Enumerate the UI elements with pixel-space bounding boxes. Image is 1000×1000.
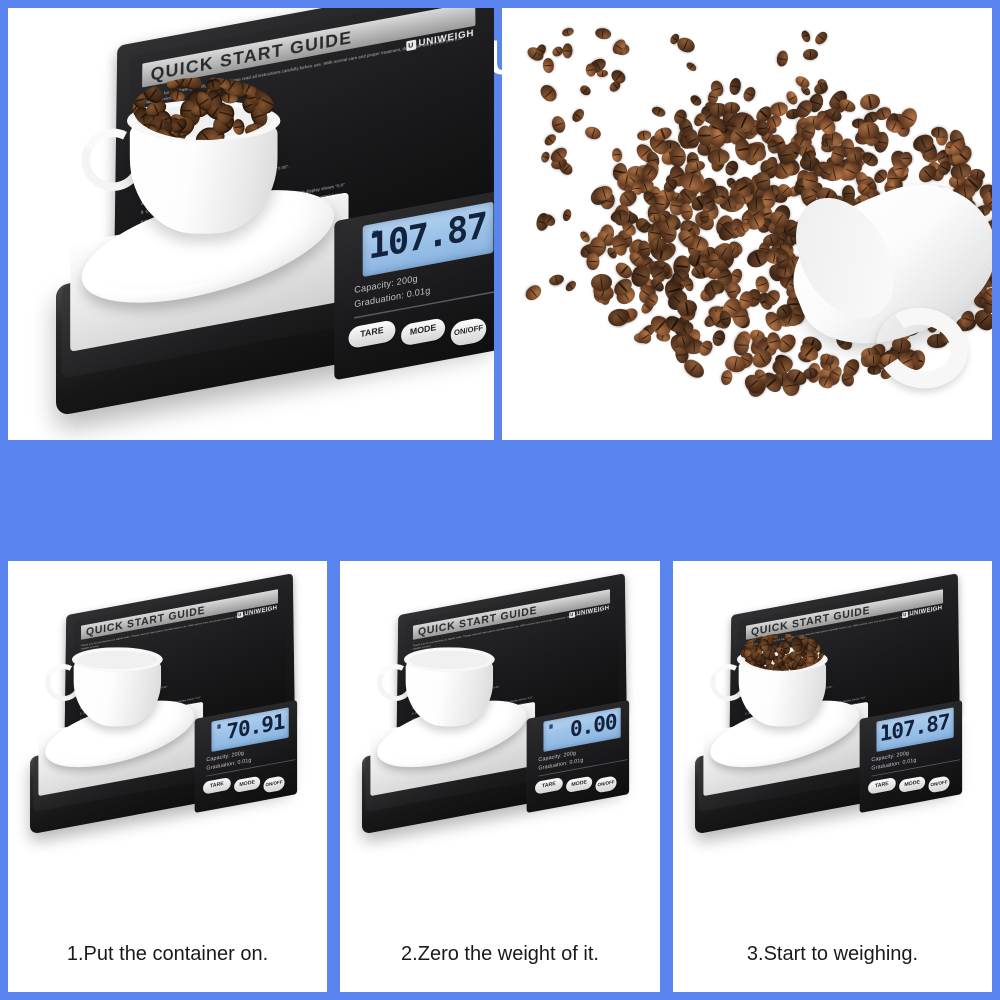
coffee-bean: [543, 132, 559, 148]
beans-in-cup: [133, 77, 275, 139]
coffee-bean: [563, 44, 573, 59]
mode-button[interactable]: MODE: [401, 317, 445, 346]
tare-button[interactable]: TARE: [868, 777, 896, 795]
coffee-bean: [594, 27, 612, 41]
brand-mark-icon: U: [902, 612, 908, 619]
coffee-bean: [697, 126, 712, 146]
onoff-button[interactable]: ON/OFF: [929, 775, 950, 793]
onoff-button[interactable]: ON/OFF: [451, 317, 487, 348]
coffee-bean: [800, 29, 812, 43]
coffee-bean: [670, 147, 686, 167]
cup-interior: [409, 651, 490, 669]
product-infographic: QUICK START GUIDE Thank you for purchasi…: [0, 0, 1000, 1000]
coffee-bean: [720, 369, 734, 386]
coffee-bean: [561, 208, 572, 222]
onoff-button[interactable]: ON/OFF: [264, 775, 285, 793]
mode-button[interactable]: MODE: [234, 776, 260, 793]
coffee-bean: [688, 94, 703, 109]
tare-button[interactable]: TARE: [203, 777, 231, 795]
coffee-bean: [741, 86, 757, 104]
coffee-bean: [586, 253, 600, 271]
brand-mark-icon: U: [569, 612, 575, 619]
coffee-bean: [611, 148, 622, 163]
tare-button[interactable]: TARE: [535, 777, 563, 795]
coffee-bean: [540, 150, 551, 163]
coffee-bean: [650, 104, 666, 118]
coffee-bean: [561, 27, 575, 38]
onoff-button[interactable]: ON/OFF: [596, 775, 617, 793]
onoff-label: ON/OFF: [597, 781, 614, 789]
coffee-bean: [728, 77, 742, 95]
lcd-value: 0.00: [570, 711, 617, 741]
coffee-bean: [775, 50, 789, 68]
coffee-bean: [675, 35, 697, 55]
onoff-label: ON/OFF: [265, 781, 282, 789]
onoff-label: ON/OFF: [930, 781, 947, 789]
coffee-bean: [564, 279, 578, 293]
step-panel-3: QUICK START GUIDE Thank you for purchasi…: [673, 561, 992, 992]
step-panel-2: QUICK START GUIDE Thank you for purchasi…: [340, 561, 660, 992]
mode-button[interactable]: MODE: [566, 776, 592, 793]
coffee-bean: [578, 84, 592, 98]
coffee-bean: [799, 84, 812, 97]
hero-right-panel: [502, 8, 992, 440]
coffee-bean: [813, 29, 830, 46]
coffee-bean: [685, 60, 698, 72]
coffee-bean: [762, 190, 775, 208]
coffee-bean: [711, 329, 727, 348]
coffee-bean: [548, 273, 565, 286]
beans-in-cup: [740, 634, 824, 671]
step-caption: 3.Start to weighing.: [673, 943, 992, 966]
coffee-bean: [683, 276, 695, 291]
coffee-bean: [537, 82, 560, 105]
coffee-bean: [232, 118, 245, 135]
mode-button[interactable]: MODE: [899, 776, 925, 793]
lcd-unit-indicator: [217, 724, 220, 729]
cup-interior: [77, 651, 158, 669]
brand-mark-icon: U: [237, 612, 243, 619]
coffee-bean: [860, 150, 881, 170]
onoff-label: ON/OFF: [454, 325, 483, 338]
step-caption: 1.Put the container on.: [8, 943, 327, 966]
hero-left-panel: QUICK START GUIDE Thank you for purchasi…: [8, 8, 494, 440]
brand-mark-icon: U: [406, 40, 416, 52]
coffee-bean: [584, 125, 603, 141]
coffee-bean: [523, 282, 544, 303]
step-panel-1: QUICK START GUIDE Thank you for purchasi…: [8, 561, 327, 992]
coffee-bean: [550, 114, 568, 134]
lcd-unit-indicator: [549, 724, 552, 729]
coffee-bean: [802, 48, 818, 61]
tare-button[interactable]: TARE: [349, 319, 396, 349]
coffee-bean: [815, 636, 824, 644]
step-caption: 2.Zero the weight of it.: [340, 943, 660, 966]
coffee-bean: [570, 108, 586, 125]
coffee-bean: [542, 57, 555, 73]
